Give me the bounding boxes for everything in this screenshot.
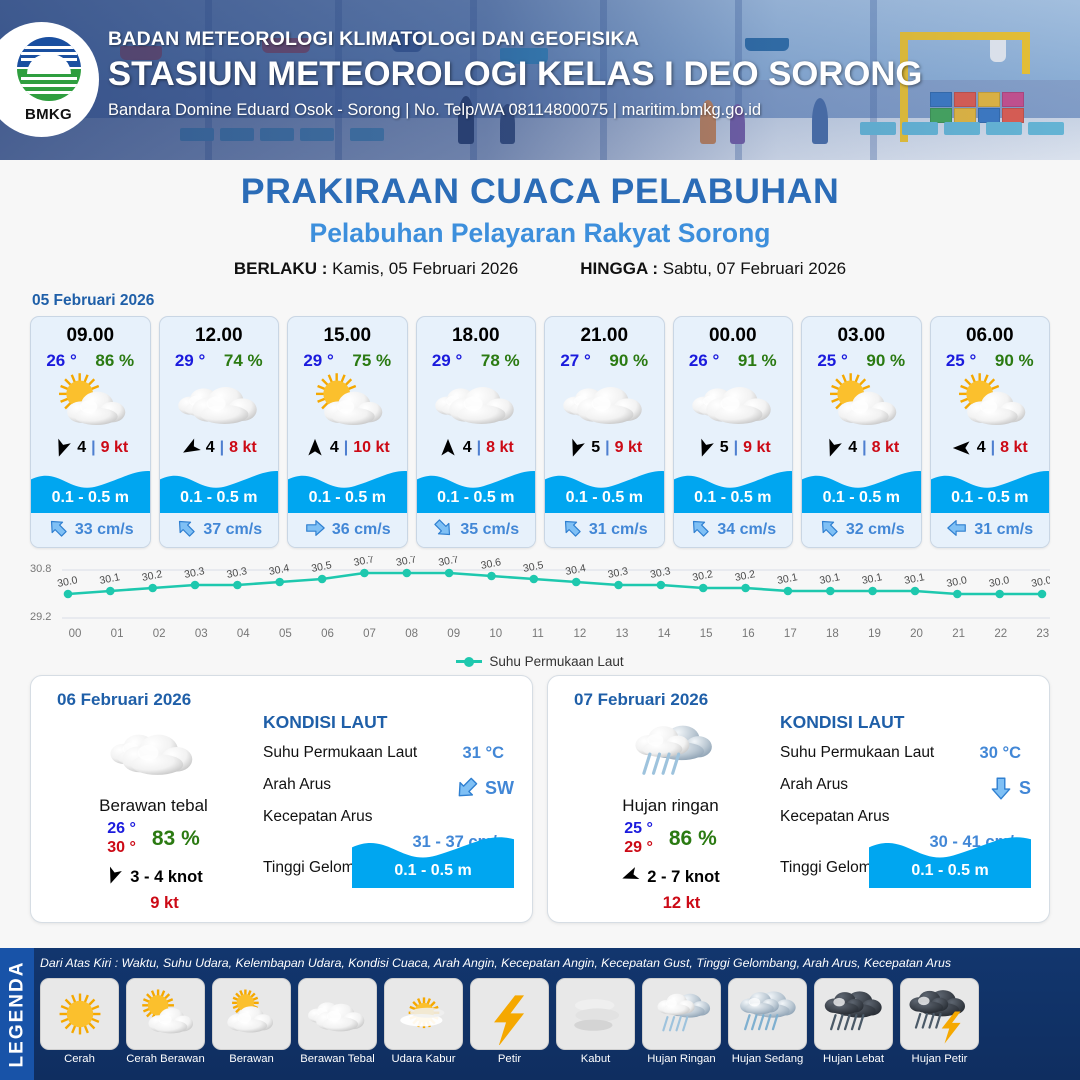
bmkg-logo-text: BMKG	[10, 106, 88, 123]
valid-until: HINGGA : Sabtu, 07 Februari 2026	[580, 259, 846, 279]
bmkg-logo-emblem	[17, 37, 81, 101]
humidity: 90 %	[995, 351, 1034, 371]
current-speed: 34 cm/s	[717, 521, 776, 539]
hourly-forecast-row: 09.00 26 ° 86 % 4 | 9 kt 0.1	[0, 316, 1080, 548]
wind-scale: 4	[977, 439, 986, 457]
wind-row: 5 | 9 kt	[674, 433, 793, 463]
daily-temp-humidity: 26 ° 30 ° 83 %	[51, 820, 256, 858]
wave-height-block: 0.1 - 0.5 m	[160, 465, 279, 513]
legend-icon-tile	[212, 978, 291, 1050]
forecast-temp-humidity: 25 ° 90 %	[931, 347, 1050, 371]
forecast-card: 15.00 29 ° 75 % 4 | 10 kt 0.	[287, 316, 408, 548]
forecast-date-label: 05 Februari 2026	[32, 292, 1080, 310]
page-subtitle: Pelabuhan Pelayaran Rakyat Sorong	[0, 218, 1080, 249]
daily-weather-icon	[568, 720, 773, 782]
sea-row-sst: Suhu Permukaan Laut 31 °C	[263, 737, 518, 769]
wind-separator: |	[734, 439, 738, 457]
current-direction-arrow-icon	[988, 775, 1014, 801]
forecast-card: 12.00 29 ° 74 % 4 | 8 kt	[159, 316, 280, 548]
daily-wave-height: 0.1 - 0.5 m	[352, 862, 514, 880]
wave-height-block: 0.1 - 0.5 m	[931, 465, 1050, 513]
wind-gust-speed: 9 kt	[615, 439, 643, 457]
current-speed: 33 cm/s	[75, 521, 134, 539]
station-contact: Bandara Domine Eduard Osok - Sorong | No…	[108, 101, 906, 120]
sea-row-label: Kecepatan Arus	[780, 808, 889, 825]
chart-x-tick: 11	[531, 628, 545, 640]
wind-row: 4 | 8 kt	[931, 433, 1050, 463]
chart-x-tick: 12	[573, 628, 587, 640]
chart-x-tick: 08	[405, 628, 419, 640]
wave-height-block: 0.1 - 0.5 m	[802, 465, 921, 513]
forecast-card: 03.00 25 ° 90 % 4 | 8 kt 0.1	[801, 316, 922, 548]
current-direction-arrow-icon	[946, 517, 968, 544]
wave-height-block: 0.1 - 0.5 m	[674, 465, 793, 513]
wind-direction-arrow-icon	[305, 438, 325, 458]
legend-icon-tile	[126, 978, 205, 1050]
current-direction-value: S	[988, 775, 1031, 801]
sea-surface-temperature: 31 °C	[463, 737, 504, 769]
legend-item: Berawan Tebal	[298, 978, 377, 1065]
chart-x-tick: 15	[699, 628, 713, 640]
legend-item-label: Hujan Lebat	[814, 1053, 893, 1065]
current-speed: 36 cm/s	[332, 521, 391, 539]
legend-item: Cerah Berawan	[126, 978, 205, 1065]
current-direction-arrow-icon	[689, 517, 711, 544]
legend-bar: LEGENDA Dari Atas Kiri : Waktu, Suhu Uda…	[0, 948, 1080, 1080]
current-speed: 31 cm/s	[974, 521, 1033, 539]
legend-icon-tile	[642, 978, 721, 1050]
chart-x-tick: 02	[152, 628, 166, 640]
wind-row: 4 | 8 kt	[160, 433, 279, 463]
chart-legend-label: Suhu Permukaan Laut	[489, 654, 623, 669]
wind-row: 4 | 9 kt	[31, 433, 150, 463]
svg-text:30.0: 30.0	[56, 574, 79, 590]
legend-icon-tile	[298, 978, 377, 1050]
chart-x-tick: 20	[910, 628, 924, 640]
sea-condition-heading: KONDISI LAUT	[780, 712, 1035, 733]
svg-text:30.3: 30.3	[183, 565, 206, 581]
daily-wave-block: 0.1 - 0.5 m	[869, 830, 1031, 888]
daily-summary-card: 06 Februari 2026 Berawan tebal 26 °	[30, 675, 533, 923]
chart-x-tick: 16	[741, 628, 755, 640]
daily-summary-row: 06 Februari 2026 Berawan tebal 26 °	[0, 675, 1080, 923]
wind-separator: |	[862, 439, 866, 457]
wind-separator: |	[344, 439, 348, 457]
humidity: 91 %	[738, 351, 777, 371]
sea-row-label: Suhu Permukaan Laut	[780, 744, 934, 761]
weather-condition-icon	[802, 371, 921, 433]
daily-temp-max: 29 °	[624, 839, 653, 858]
wind-scale: 4	[848, 439, 857, 457]
current-speed: 35 cm/s	[460, 521, 519, 539]
sea-row-sst: Suhu Permukaan Laut 30 °C	[780, 737, 1035, 769]
wind-gust-speed: 8 kt	[872, 439, 900, 457]
current-direction-arrow-icon	[47, 517, 69, 544]
forecast-card: 18.00 29 ° 78 % 4 | 8 kt	[416, 316, 537, 548]
humidity: 90 %	[866, 351, 905, 371]
forecast-time: 18.00	[417, 317, 536, 347]
legend-item: Kabut	[556, 978, 635, 1065]
daily-condition: Hujan ringan	[568, 796, 773, 816]
humidity: 78 %	[481, 351, 520, 371]
current-direction-arrow-icon	[432, 517, 454, 544]
sea-row-current-speed: Kecepatan Arus	[780, 801, 1035, 833]
chart-x-tick: 13	[615, 628, 629, 640]
legend-icon-tile	[814, 978, 893, 1050]
wind-gust-speed: 8 kt	[229, 439, 257, 457]
daily-wave-block: 0.1 - 0.5 m	[352, 830, 514, 888]
sea-surface-temperature: 30 °C	[980, 737, 1021, 769]
legend-item: Udara Kabur	[384, 978, 463, 1065]
header-text-block: BADAN METEOROLOGI KLIMATOLOGI DAN GEOFIS…	[108, 28, 906, 120]
legend-item-label: Udara Kabur	[384, 1053, 463, 1065]
wave-height: 0.1 - 0.5 m	[417, 489, 536, 507]
current-row: 37 cm/s	[160, 513, 279, 547]
chart-x-tick: 22	[994, 628, 1008, 640]
wave-height: 0.1 - 0.5 m	[674, 489, 793, 507]
svg-text:30.2: 30.2	[141, 568, 164, 584]
current-speed: 31 cm/s	[589, 521, 648, 539]
wind-scale: 5	[720, 439, 729, 457]
daily-wind-direction-arrow-icon	[621, 866, 640, 890]
daily-date: 07 Februari 2026	[574, 690, 708, 710]
svg-text:30.0: 30.0	[1030, 574, 1050, 590]
chart-x-tick: 00	[68, 628, 82, 640]
wind-row: 4 | 10 kt	[288, 433, 407, 463]
wind-direction-arrow-icon	[823, 438, 843, 458]
sea-surface-temp-chart: 30.8 29.2 30.030.130.230.330.330.430.530…	[30, 556, 1050, 648]
svg-text:30.2: 30.2	[691, 568, 714, 584]
title-block: PRAKIRAAN CUACA PELABUHAN Pelabuhan Pela…	[0, 160, 1080, 279]
current-row: 35 cm/s	[417, 513, 536, 547]
wind-direction-arrow-icon	[952, 438, 972, 458]
humidity: 86 %	[95, 351, 134, 371]
chart-legend: Suhu Permukaan Laut	[0, 654, 1080, 669]
svg-text:30.1: 30.1	[99, 571, 122, 587]
legend-item: Berawan	[212, 978, 291, 1065]
wind-gust-speed: 8 kt	[486, 439, 514, 457]
wind-scale: 4	[463, 439, 472, 457]
legend-item: Hujan Lebat	[814, 978, 893, 1065]
current-direction-value: SW	[454, 775, 514, 801]
sea-condition-block: KONDISI LAUT Suhu Permukaan Laut 30 °C A…	[780, 712, 1035, 884]
chart-x-tick: 05	[278, 628, 292, 640]
svg-text:30.0: 30.0	[988, 574, 1011, 590]
legend-item-label: Kabut	[556, 1053, 635, 1065]
weather-condition-icon	[417, 371, 536, 433]
chart-x-tick: 23	[1036, 628, 1050, 640]
wind-row: 5 | 9 kt	[545, 433, 664, 463]
sea-row-label: Arah Arus	[263, 776, 331, 793]
forecast-card: 06.00 25 ° 90 % 4 | 8 kt 0.1	[930, 316, 1051, 548]
svg-text:30.7: 30.7	[353, 556, 376, 569]
legend-item: Hujan Sedang	[728, 978, 807, 1065]
wind-separator: |	[605, 439, 609, 457]
current-direction-label: S	[1019, 778, 1031, 799]
legend-item-label: Berawan Tebal	[298, 1053, 377, 1065]
legend-item: Petir	[470, 978, 549, 1065]
legend-icon-tile	[728, 978, 807, 1050]
chart-x-tick: 21	[952, 628, 966, 640]
forecast-time: 06.00	[931, 317, 1050, 347]
wind-direction-arrow-icon	[566, 438, 586, 458]
wind-direction-arrow-icon	[438, 438, 458, 458]
svg-text:30.1: 30.1	[861, 571, 884, 587]
forecast-temp-humidity: 29 ° 75 %	[288, 347, 407, 371]
legend-item-label: Cerah Berawan	[126, 1053, 205, 1065]
current-row: 32 cm/s	[802, 513, 921, 547]
wind-gust-speed: 10 kt	[353, 439, 389, 457]
chart-x-axis: 0001020304050607080910111213141516171819…	[68, 628, 1050, 640]
daily-wind-row: 3 - 4 knot	[51, 866, 256, 890]
forecast-temp-humidity: 29 ° 78 %	[417, 347, 536, 371]
current-direction-arrow-icon	[561, 517, 583, 544]
forecast-time: 03.00	[802, 317, 921, 347]
chart-x-tick: 06	[320, 628, 334, 640]
wind-scale: 4	[330, 439, 339, 457]
daily-wave-height: 0.1 - 0.5 m	[869, 862, 1031, 880]
wind-scale: 4	[206, 439, 215, 457]
chart-x-tick: 17	[783, 628, 797, 640]
wind-direction-arrow-icon	[181, 438, 201, 458]
valid-from-label: BERLAKU :	[234, 259, 328, 278]
legend-icon-tile	[40, 978, 119, 1050]
svg-text:30.3: 30.3	[226, 565, 249, 581]
forecast-temp-humidity: 26 ° 91 %	[674, 347, 793, 371]
current-direction-arrow-icon	[304, 517, 326, 544]
chart-x-tick: 19	[867, 628, 881, 640]
current-direction-label: SW	[485, 778, 514, 799]
forecast-card: 21.00 27 ° 90 % 5 | 9 kt	[544, 316, 665, 548]
wind-scale: 4	[77, 439, 86, 457]
svg-text:30.5: 30.5	[522, 559, 545, 575]
daily-left-block: Hujan ringan 25 ° 29 ° 86 % 2 - 7 knot 1…	[568, 720, 773, 913]
wind-gust-speed: 8 kt	[1000, 439, 1028, 457]
agency-name: BADAN METEOROLOGI KLIMATOLOGI DAN GEOFIS…	[108, 28, 906, 51]
daily-date: 06 Februari 2026	[57, 690, 191, 710]
current-speed: 32 cm/s	[846, 521, 905, 539]
legend-item: Hujan Ringan	[642, 978, 721, 1065]
chart-legend-marker-icon	[456, 660, 482, 663]
legend-items: Cerah Cerah Berawan	[40, 978, 1076, 1065]
air-temperature: 26 °	[689, 351, 719, 371]
wave-height-block: 0.1 - 0.5 m	[31, 465, 150, 513]
air-temperature: 29 °	[432, 351, 462, 371]
sea-row-label: Suhu Permukaan Laut	[263, 744, 417, 761]
valid-from-value: Kamis, 05 Februari 2026	[332, 259, 518, 278]
forecast-time: 00.00	[674, 317, 793, 347]
chart-x-tick: 10	[489, 628, 503, 640]
valid-until-value: Sabtu, 07 Februari 2026	[663, 259, 846, 278]
svg-text:30.4: 30.4	[268, 562, 291, 578]
daily-humidity: 86 %	[669, 827, 717, 851]
valid-until-label: HINGGA :	[580, 259, 658, 278]
sea-row-current-speed: Kecepatan Arus	[263, 801, 518, 833]
wave-height-block: 0.1 - 0.5 m	[288, 465, 407, 513]
humidity: 75 %	[352, 351, 391, 371]
legend-item: Hujan Petir	[900, 978, 979, 1065]
validity-row: BERLAKU : Kamis, 05 Februari 2026 HINGGA…	[0, 259, 1080, 279]
svg-text:30.7: 30.7	[437, 556, 460, 569]
daily-temp-humidity: 25 ° 29 ° 86 %	[568, 820, 773, 858]
legend-item-label: Petir	[470, 1053, 549, 1065]
legend-side-title-text: LEGENDA	[6, 961, 28, 1068]
weather-condition-icon	[931, 371, 1050, 433]
forecast-card: 09.00 26 ° 86 % 4 | 9 kt 0.1	[30, 316, 151, 548]
wave-height: 0.1 - 0.5 m	[802, 489, 921, 507]
legend-icon-tile	[900, 978, 979, 1050]
svg-text:30.4: 30.4	[564, 562, 587, 578]
legend-item-label: Hujan Sedang	[728, 1053, 807, 1065]
wave-height: 0.1 - 0.5 m	[31, 489, 150, 507]
air-temperature: 29 °	[303, 351, 333, 371]
station-name: STASIUN METEOROLOGI KELAS I DEO SORONG	[108, 55, 922, 94]
svg-text:30.3: 30.3	[649, 565, 672, 581]
air-temperature: 29 °	[175, 351, 205, 371]
daily-wind-row: 2 - 7 knot	[568, 866, 773, 890]
legend-item-label: Hujan Petir	[900, 1053, 979, 1065]
chart-x-tick: 09	[447, 628, 461, 640]
legend-icon-tile	[470, 978, 549, 1050]
daily-gust: 9 kt	[73, 894, 256, 913]
sea-row-label: Arah Arus	[780, 776, 848, 793]
chart-x-tick: 01	[110, 628, 124, 640]
wind-separator: |	[91, 439, 95, 457]
current-row: 36 cm/s	[288, 513, 407, 547]
legend-icon-tile	[384, 978, 463, 1050]
legend-icon-tile	[556, 978, 635, 1050]
chart-x-tick: 14	[657, 628, 671, 640]
wind-gust-speed: 9 kt	[743, 439, 771, 457]
svg-text:30.3: 30.3	[607, 565, 630, 581]
current-row: 31 cm/s	[931, 513, 1050, 547]
legend-item: Cerah	[40, 978, 119, 1065]
current-direction-arrow-icon	[818, 517, 840, 544]
daily-temp-min: 26 °	[107, 820, 136, 839]
svg-text:30.0: 30.0	[946, 574, 969, 590]
forecast-time: 21.00	[545, 317, 664, 347]
wave-height: 0.1 - 0.5 m	[931, 489, 1050, 507]
legend-note: Dari Atas Kiri : Waktu, Suhu Udara, Kele…	[40, 956, 1076, 970]
current-speed: 37 cm/s	[203, 521, 262, 539]
sea-row-label: Kecepatan Arus	[263, 808, 372, 825]
weather-condition-icon	[160, 371, 279, 433]
wind-row: 4 | 8 kt	[802, 433, 921, 463]
svg-text:30.5: 30.5	[310, 559, 333, 575]
humidity: 74 %	[224, 351, 263, 371]
wind-direction-arrow-icon	[695, 438, 715, 458]
current-row: 31 cm/s	[545, 513, 664, 547]
wind-direction-arrow-icon	[52, 438, 72, 458]
forecast-time: 12.00	[160, 317, 279, 347]
chart-plot: 30.030.130.230.330.330.430.530.730.730.7…	[30, 556, 1050, 634]
wind-separator: |	[220, 439, 224, 457]
page-header: BMKG BADAN METEOROLOGI KLIMATOLOGI DAN G…	[0, 0, 1080, 160]
weather-condition-icon	[674, 371, 793, 433]
chart-x-tick: 18	[825, 628, 839, 640]
wave-height-block: 0.1 - 0.5 m	[417, 465, 536, 513]
current-row: 33 cm/s	[31, 513, 150, 547]
wind-separator: |	[991, 439, 995, 457]
wave-height: 0.1 - 0.5 m	[160, 489, 279, 507]
humidity: 90 %	[609, 351, 648, 371]
chart-x-tick: 07	[363, 628, 377, 640]
daily-temp-max: 30 °	[107, 839, 136, 858]
svg-text:30.1: 30.1	[776, 571, 799, 587]
air-temperature: 25 °	[946, 351, 976, 371]
forecast-temp-humidity: 29 ° 74 %	[160, 347, 279, 371]
air-temperature: 27 °	[560, 351, 590, 371]
bmkg-logo: BMKG	[0, 22, 99, 137]
chart-x-tick: 04	[236, 628, 250, 640]
daily-temp-min: 25 °	[624, 820, 653, 839]
wave-height: 0.1 - 0.5 m	[545, 489, 664, 507]
daily-gust: 12 kt	[590, 894, 773, 913]
current-direction-arrow-icon	[454, 775, 480, 801]
legend-side-title: LEGENDA	[0, 948, 34, 1080]
forecast-time: 15.00	[288, 317, 407, 347]
weather-condition-icon	[545, 371, 664, 433]
legend-item-label: Berawan	[212, 1053, 291, 1065]
daily-weather-icon	[51, 720, 256, 782]
daily-humidity: 83 %	[152, 827, 200, 851]
daily-wind-range: 2 - 7 knot	[647, 868, 719, 887]
air-temperature: 25 °	[817, 351, 847, 371]
daily-condition: Berawan tebal	[51, 796, 256, 816]
forecast-temp-humidity: 27 ° 90 %	[545, 347, 664, 371]
forecast-card: 00.00 26 ° 91 % 5 | 9 kt	[673, 316, 794, 548]
forecast-time: 09.00	[31, 317, 150, 347]
chart-x-tick: 03	[194, 628, 208, 640]
svg-text:30.2: 30.2	[734, 568, 757, 584]
svg-text:30.1: 30.1	[819, 571, 842, 587]
forecast-temp-humidity: 25 ° 90 %	[802, 347, 921, 371]
legend-item-label: Cerah	[40, 1053, 119, 1065]
page-title: PRAKIRAAN CUACA PELABUHAN	[0, 172, 1080, 212]
sea-row-current-direction: Arah Arus S	[780, 769, 1035, 801]
svg-text:30.7: 30.7	[395, 556, 418, 569]
wind-row: 4 | 8 kt	[417, 433, 536, 463]
daily-left-block: Berawan tebal 26 ° 30 ° 83 % 3 - 4 knot …	[51, 720, 256, 913]
wind-gust-speed: 9 kt	[101, 439, 129, 457]
wave-height-block: 0.1 - 0.5 m	[545, 465, 664, 513]
sea-condition-heading: KONDISI LAUT	[263, 712, 518, 733]
sea-condition-block: KONDISI LAUT Suhu Permukaan Laut 31 °C A…	[263, 712, 518, 884]
daily-summary-card: 07 Februari 2026 Hujan ringan 25 ° 2	[547, 675, 1050, 923]
weather-condition-icon	[31, 371, 150, 433]
air-temperature: 26 °	[46, 351, 76, 371]
wind-scale: 5	[591, 439, 600, 457]
legend-item-label: Hujan Ringan	[642, 1053, 721, 1065]
valid-from: BERLAKU : Kamis, 05 Februari 2026	[234, 259, 518, 279]
wind-separator: |	[477, 439, 481, 457]
daily-wind-range: 3 - 4 knot	[130, 868, 202, 887]
svg-text:30.1: 30.1	[903, 571, 926, 587]
forecast-temp-humidity: 26 ° 86 %	[31, 347, 150, 371]
daily-wind-direction-arrow-icon	[104, 866, 123, 890]
current-row: 34 cm/s	[674, 513, 793, 547]
weather-condition-icon	[288, 371, 407, 433]
sea-row-current-direction: Arah Arus SW	[263, 769, 518, 801]
current-direction-arrow-icon	[175, 517, 197, 544]
wave-height: 0.1 - 0.5 m	[288, 489, 407, 507]
